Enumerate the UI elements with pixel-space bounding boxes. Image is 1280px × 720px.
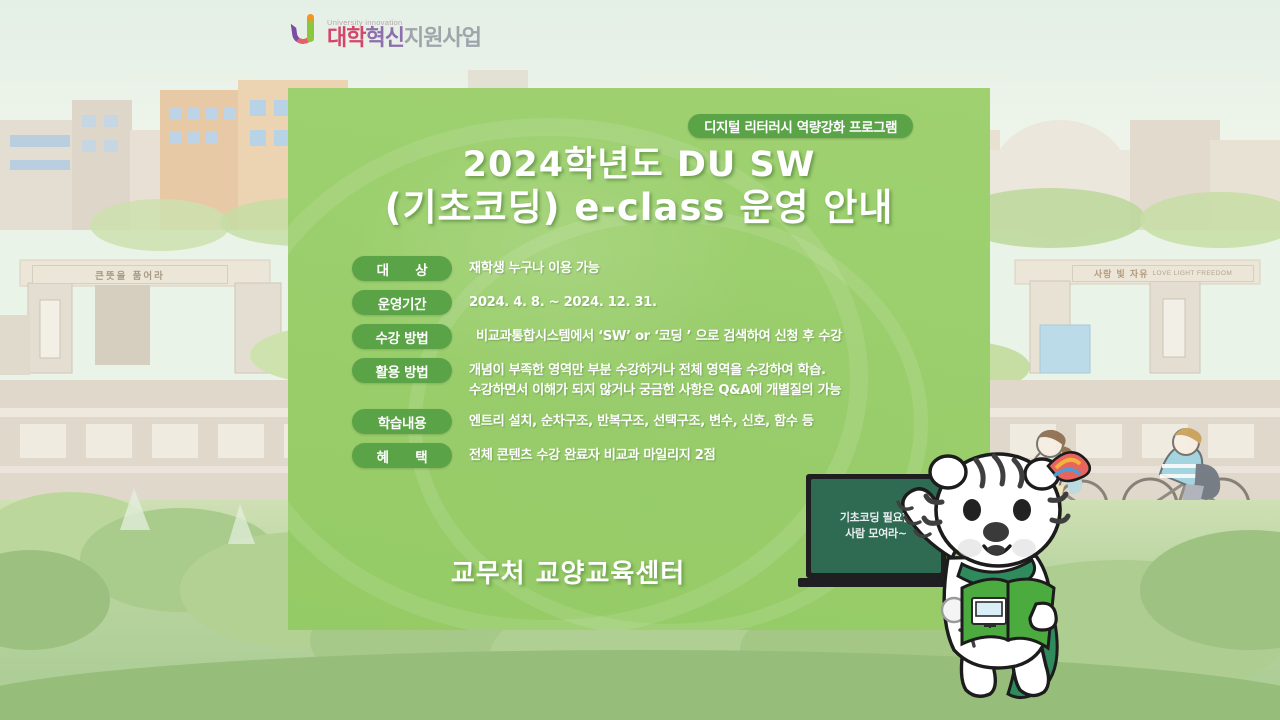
info-value-enrollment: 비교과통합시스템에서 ‘SW’ or ‘코딩 ’ 으로 검색하여 신청 후 수강 [452,324,952,347]
info-value-usage-text: 개념이 부족한 영역만 부분 수강하거나 전체 영역을 수강하여 학습. [469,363,826,378]
tiger-mascot-icon [890,438,1120,706]
info-label-period: 운영기간 [352,290,452,315]
table-row: 학습내용 엔트리 설치, 순차구조, 반복구조, 선택구조, 변수, 신호, 함… [352,409,952,434]
page-title: 2024학년도 DU SW (기초코딩) e-class 운영 안내 [288,146,990,229]
footer-organization-text: 교무처 교양교육센터 [451,559,685,589]
info-value-benefit: 전체 콘텐츠 수강 완료자 비교과 마일리지 2점 [452,443,952,466]
table-row: 혜 택 전체 콘텐츠 수강 완료자 비교과 마일리지 2점 [352,443,952,468]
info-label-enrollment-text: 수강 방법 [376,327,429,347]
info-label-period-text: 운영기간 [378,293,426,313]
info-value-curriculum: 엔트리 설치, 순차구조, 반복구조, 선택구조, 변수, 신호, 함수 등 [452,409,952,432]
university-innovation-logo: University innovation 대학혁신지원사업 [292,16,481,50]
info-value-usage-text-line2: 수강하면서 이해가 되지 않거나 궁금한 사항은 Q&A에 개별질의 가능 [469,381,952,401]
logo-uj-mark-icon [292,16,322,50]
logo-korean-text: 대학혁신지원사업 [327,28,481,50]
info-label-target-text: 대 상 [377,259,428,279]
info-label-target: 대 상 [352,256,452,281]
program-info-table: 대 상 재학생 누구나 이용 가능 운영기간 2024. 4. 8. ~ 202… [352,256,952,477]
info-value-target-text: 재학생 누구나 이용 가능 [469,261,600,276]
info-value-usage: 개념이 부족한 영역만 부분 수강하거나 전체 영역을 수강하여 학습. 수강하… [452,358,952,400]
logo-korean-part3: 지원사업 [404,26,481,51]
info-value-enrollment-text: 비교과통합시스템에서 ‘SW’ or ‘코딩 ’ 으로 검색하여 신청 후 수강 [476,329,842,344]
footer-organization: 교무처 교양교육센터 [288,553,848,590]
page-title-line2: (기초코딩) e-class 운영 안내 [288,187,990,228]
info-label-enrollment: 수강 방법 [352,324,452,349]
poster-canvas: 큰뜻을 품어라 사랑 빛 자유 LOVE LIGHT FREEDOM Unive… [0,0,1280,720]
gate-sign-left-text: 큰뜻을 품어라 [95,268,165,282]
table-row: 대 상 재학생 누구나 이용 가능 [352,256,952,281]
gate-sign-left: 큰뜻을 품어라 [32,265,228,284]
gate-sign-right: 사랑 빛 자유 LOVE LIGHT FREEDOM [1072,265,1254,282]
info-value-period-text: 2024. 4. 8. ~ 2024. 12. 31. [469,295,657,310]
table-row: 수강 방법 비교과통합시스템에서 ‘SW’ or ‘코딩 ’ 으로 검색하여 신… [352,324,952,349]
info-label-usage-text: 활용 방법 [376,361,429,381]
info-label-curriculum-text: 학습내용 [378,412,426,432]
info-label-benefit: 혜 택 [352,443,452,468]
logo-korean-part2: 혁신 [365,26,403,51]
info-value-benefit-text: 전체 콘텐츠 수강 완료자 비교과 마일리지 2점 [469,448,715,463]
program-badge: 디지털 리터러시 역량강화 프로그램 [688,114,913,138]
table-row: 활용 방법 개념이 부족한 영역만 부분 수강하거나 전체 영역을 수강하여 학… [352,358,952,400]
info-label-curriculum: 학습내용 [352,409,452,434]
info-label-benefit-text: 혜 택 [377,446,428,466]
page-title-line1: 2024학년도 DU SW [288,146,990,185]
info-value-period: 2024. 4. 8. ~ 2024. 12. 31. [452,290,952,313]
gate-sign-right-korean: 사랑 빛 자유 [1094,267,1149,280]
table-row: 운영기간 2024. 4. 8. ~ 2024. 12. 31. [352,290,952,315]
info-label-usage: 활용 방법 [352,358,452,383]
info-value-target: 재학생 누구나 이용 가능 [452,256,952,279]
logo-korean-part1: 대학 [327,26,365,51]
gate-sign-right-english: LOVE LIGHT FREEDOM [1152,270,1232,277]
info-value-curriculum-text: 엔트리 설치, 순차구조, 반복구조, 선택구조, 변수, 신호, 함수 등 [469,414,814,429]
program-badge-label: 디지털 리터러시 역량강화 프로그램 [704,116,897,136]
